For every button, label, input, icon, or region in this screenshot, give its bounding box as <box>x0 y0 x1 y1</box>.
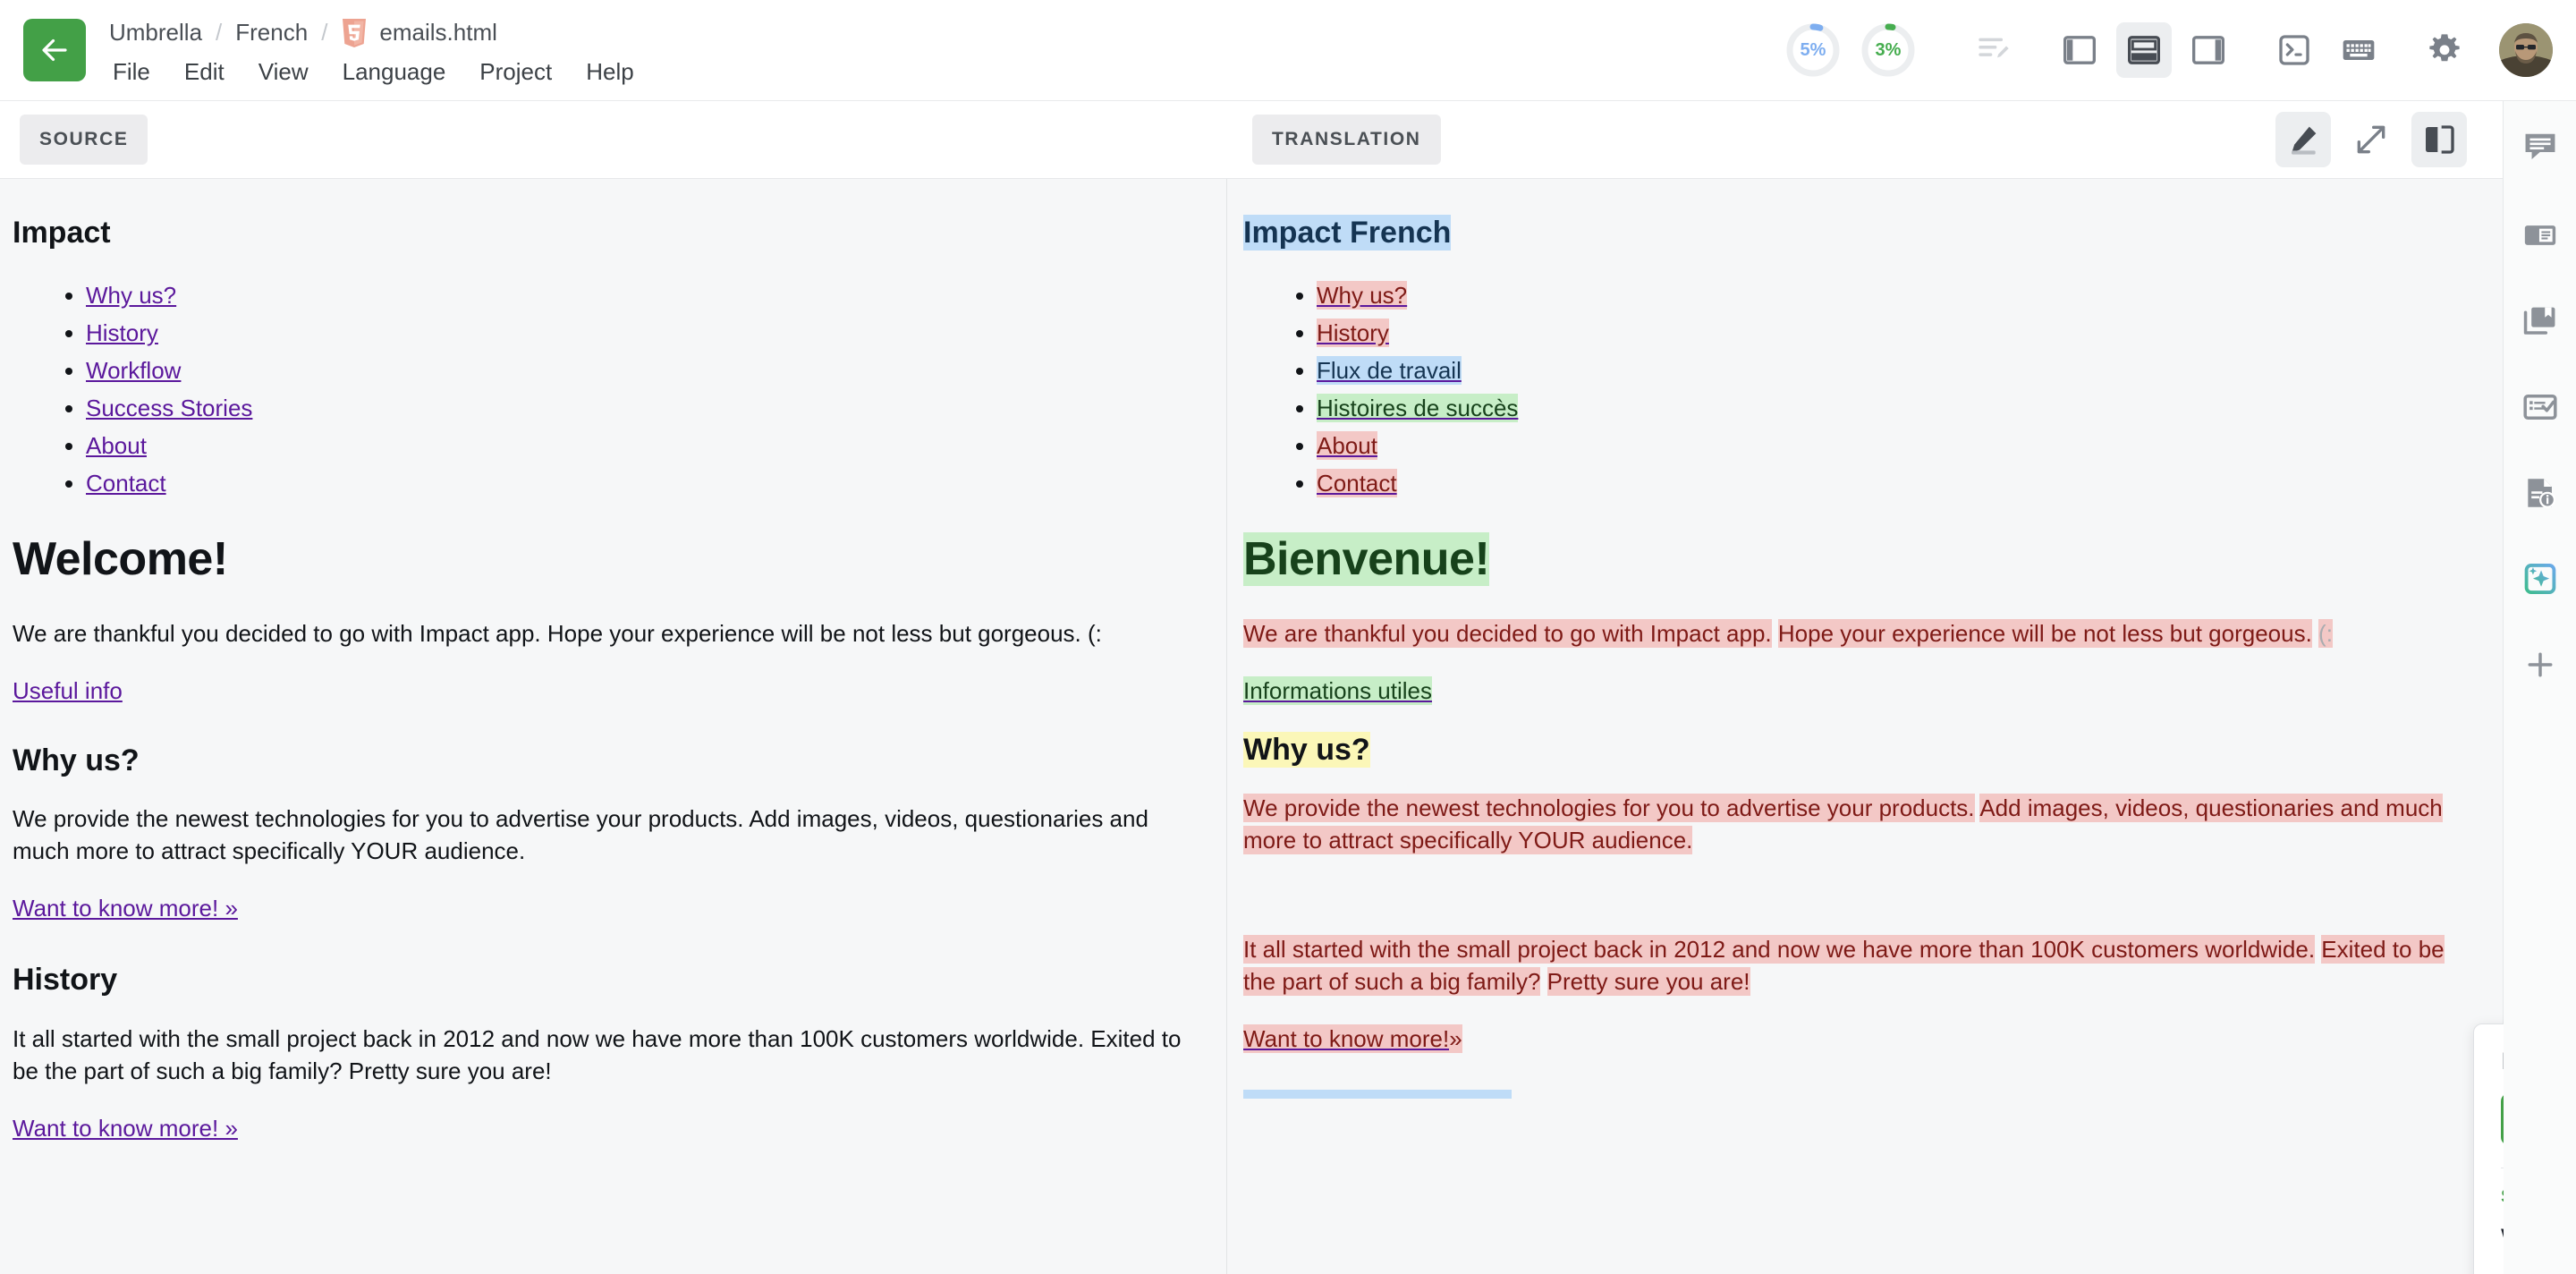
panel-tab-bar: SOURCE TRANSLATION 文 A <box>0 101 2576 179</box>
breadcrumb: Umbrella / French / emails.html <box>109 15 668 51</box>
workspace: Impact Why us? History Workflow Success … <box>0 179 2576 1274</box>
list-item: History <box>86 314 1185 352</box>
avatar[interactable] <box>2499 23 2553 77</box>
expand-arrows-icon[interactable] <box>2343 112 2399 167</box>
source-welcome-text: We are thankful you decided to go with I… <box>13 618 1185 650</box>
target-segment[interactable]: We are thankful you decided to go with I… <box>1243 619 1772 648</box>
breadcrumb-file[interactable]: emails.html <box>379 19 496 47</box>
approved-progress-ring: 3% <box>1860 22 1916 78</box>
target-segment[interactable]: Pretty sure you are! <box>1547 967 1750 996</box>
source-history-text: It all started with the small project ba… <box>13 1023 1185 1088</box>
target-nav-link[interactable]: About <box>1317 431 1377 460</box>
target-history-more-wrap: Want to know more!» <box>1243 1025 2462 1053</box>
target-segment[interactable]: We provide the newest technologies for y… <box>1243 794 1975 822</box>
source-title: Impact <box>13 215 1185 251</box>
comments-icon[interactable] <box>2512 117 2569 174</box>
title-block: Umbrella / French / emails.html File Edi… <box>109 15 668 86</box>
list-item: Workflow <box>86 352 1185 389</box>
translated-progress-ring: 5% <box>1785 22 1841 78</box>
target-nav-link[interactable]: Contact <box>1317 469 1397 497</box>
target-why-text: We provide the newest technologies for y… <box>1243 793 2462 857</box>
target-useful-info-wrap: Informations utiles <box>1243 677 2462 705</box>
translation-panel[interactable]: Impact French Why us? History Flux de tr… <box>1227 179 2504 1274</box>
translation-editor-popup[interactable]: A <box>2473 1023 2504 1274</box>
top-bar-tools: 5% 3% <box>1785 22 2553 78</box>
list-item: Contact <box>86 464 1185 502</box>
target-useful-info-link[interactable]: Informations utiles <box>1243 676 1432 705</box>
target-history-text: It all started with the small project ba… <box>1243 934 2462 998</box>
source-string-toggle[interactable]: SOURCE STRING <box>2474 1168 2504 1208</box>
html5-icon <box>341 18 368 48</box>
top-bar: Umbrella / French / emails.html File Edi… <box>0 0 2576 101</box>
list-item: Contact <box>1317 464 2462 502</box>
list-item: Flux de travail <box>1317 352 2462 389</box>
source-why-heading: Why us? <box>13 743 1185 779</box>
glossary-bookmark-icon[interactable] <box>2512 293 2569 350</box>
save-button[interactable] <box>2501 1093 2504 1145</box>
source-history-heading: History <box>13 962 1185 998</box>
source-welcome-heading: Welcome! <box>13 532 1185 587</box>
target-nav-list: Why us? History Flux de travail Histoire… <box>1243 276 2462 503</box>
list-item: Why us? <box>86 276 1185 314</box>
target-history-more-link[interactable]: Want to know more! <box>1243 1024 1449 1053</box>
tab-translation[interactable]: TRANSLATION <box>1252 115 1441 165</box>
list-item: About <box>86 427 1185 464</box>
target-welcome-heading[interactable]: Bienvenue! <box>1243 532 1489 586</box>
list-item: About <box>1317 427 2462 464</box>
source-string-text: Why us? <box>2474 1208 2504 1252</box>
layout-left-panel-icon[interactable] <box>2052 22 2107 78</box>
menu-project[interactable]: Project <box>479 58 552 86</box>
breadcrumb-separator-2: / <box>321 19 327 47</box>
target-history-more-arrow[interactable]: » <box>1449 1024 1462 1053</box>
keyboard-icon[interactable] <box>2331 22 2386 78</box>
file-info-icon[interactable] <box>2512 464 2569 522</box>
translated-progress-value: 5% <box>1785 22 1841 78</box>
approved-progress-value: 3% <box>1860 22 1916 78</box>
user-avatar <box>2499 23 2553 77</box>
menu-view[interactable]: View <box>258 58 309 86</box>
target-why-heading-wrap: Why us? <box>1243 732 2462 769</box>
panel-tools <box>2263 112 2467 167</box>
source-nav-link[interactable]: About <box>86 432 147 459</box>
target-nav-link[interactable]: Flux de travail <box>1317 356 1462 385</box>
source-panel[interactable]: Impact Why us? History Workflow Success … <box>0 179 1227 1274</box>
pencil-edit-icon[interactable] <box>2275 112 2331 167</box>
list-item: History <box>1317 314 2462 352</box>
source-nav-link[interactable]: Contact <box>86 470 166 497</box>
source-string-label: SOURCE STRING <box>2501 1186 2504 1208</box>
source-nav-link[interactable]: History <box>86 319 158 346</box>
target-segment[interactable]: (: <box>2318 619 2333 648</box>
target-segment[interactable]: It all started with the small project ba… <box>1243 935 2315 964</box>
list-item: Histoires de succès <box>1317 389 2462 427</box>
breadcrumb-project[interactable]: Umbrella <box>109 19 202 47</box>
target-title-wrap: Impact French <box>1243 215 2462 251</box>
translation-document: Impact French Why us? History Flux de tr… <box>1243 215 2462 1103</box>
arrow-left-icon <box>38 34 71 66</box>
target-why-heading[interactable]: Why us? <box>1243 732 1370 768</box>
menu-file[interactable]: File <box>113 58 150 86</box>
add-panel-icon[interactable] <box>2512 636 2569 693</box>
editor-actions: 7 0 <box>2474 1075 2504 1151</box>
target-nav-link[interactable]: Histoires de succès <box>1317 394 1518 422</box>
breadcrumb-language[interactable]: French <box>235 19 308 47</box>
layout-right-panel-icon[interactable] <box>2181 22 2236 78</box>
source-history-more-link[interactable]: Want to know more! » <box>13 1115 238 1142</box>
source-nav-link[interactable]: Why us? <box>86 282 176 309</box>
ai-sparkle-icon[interactable] <box>2512 550 2569 607</box>
source-useful-info-link[interactable]: Useful info <box>13 677 123 705</box>
target-next-segment[interactable] <box>1243 1090 1512 1099</box>
target-nav-link[interactable]: History <box>1317 318 1389 347</box>
terminal-icon[interactable] <box>2267 22 2322 78</box>
menu-language[interactable]: Language <box>343 58 446 86</box>
source-nav-list: Why us? History Workflow Success Stories… <box>13 276 1185 503</box>
menu-edit[interactable]: Edit <box>184 58 225 86</box>
translation-input[interactable] <box>2501 1048 2504 1075</box>
target-segment[interactable]: Hope your experience will be not less bu… <box>1778 619 2312 648</box>
source-nav-link[interactable]: Workflow <box>86 357 181 384</box>
layout-split-horizontal-icon[interactable] <box>2116 22 2172 78</box>
source-why-more-link[interactable]: Want to know more! » <box>13 895 238 922</box>
source-nav-link[interactable]: Success Stories <box>86 395 252 421</box>
list-item: Success Stories <box>86 389 1185 427</box>
right-sidebar <box>2503 101 2576 1274</box>
editor-input-row: A <box>2474 1024 2504 1075</box>
tab-source[interactable]: SOURCE <box>20 115 148 165</box>
source-why-text: We provide the newest technologies for y… <box>13 803 1185 868</box>
target-nav-link[interactable]: Why us? <box>1317 281 1407 310</box>
target-welcome-heading-wrap: Bienvenue! <box>1243 532 2462 587</box>
menu-bar: File Edit View Language Project Help <box>109 58 668 86</box>
list-item: Why us? <box>1317 276 2462 314</box>
back-button[interactable] <box>23 19 86 81</box>
target-welcome-text: We are thankful you decided to go with I… <box>1243 618 2462 650</box>
qa-checklist-icon[interactable] <box>2512 378 2569 436</box>
target-title[interactable]: Impact French <box>1243 215 1451 251</box>
segment-card-icon[interactable] <box>2512 207 2569 264</box>
target-next-segment-wrap <box>1243 1087 2462 1103</box>
split-view-icon[interactable] <box>2411 112 2467 167</box>
gear-icon[interactable] <box>2417 22 2472 78</box>
edit-document-icon[interactable] <box>1966 22 2021 78</box>
source-document: Impact Why us? History Workflow Success … <box>13 215 1185 1169</box>
menu-help[interactable]: Help <box>586 58 633 86</box>
breadcrumb-separator-1: / <box>216 19 222 47</box>
